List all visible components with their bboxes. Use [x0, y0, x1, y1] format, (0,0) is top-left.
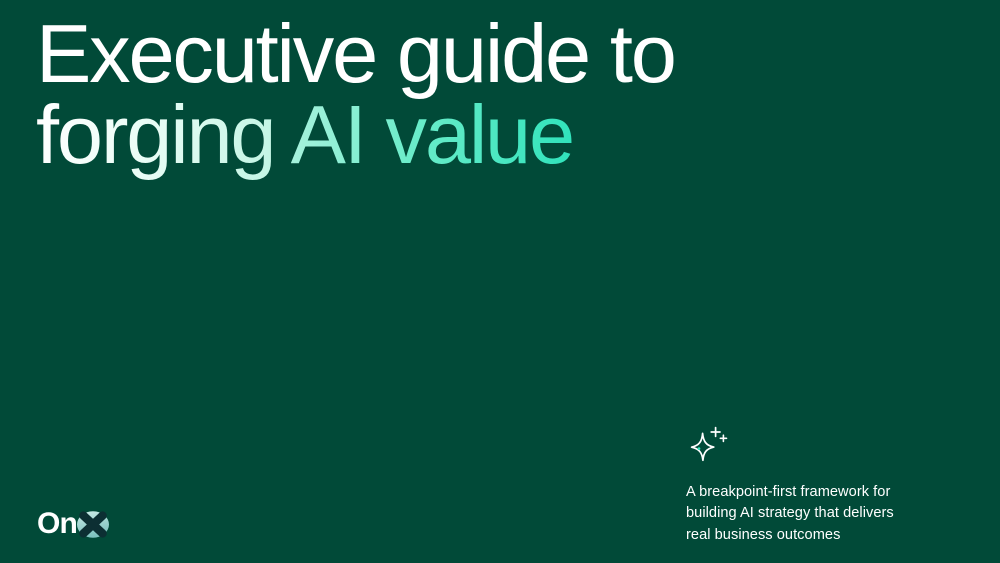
logo-x-mark-icon: [73, 507, 113, 541]
callout-line-3: real business outcomes: [686, 525, 966, 546]
brand-logo: On: [37, 506, 113, 542]
logo-wordmark: On: [37, 509, 77, 539]
title-line-2-prefix: forging: [36, 88, 291, 181]
page-title: Executive guide to forging AI value: [36, 14, 916, 175]
sparkle-star-shape: [692, 433, 714, 460]
sparkle-plus-large: [711, 428, 720, 437]
title-accent-ai-value: AI value: [291, 88, 573, 181]
callout-description: A breakpoint-first framework for buildin…: [686, 482, 966, 546]
slide-canvas: Executive guide to forging AI value A br…: [0, 0, 1000, 563]
title-line-1: Executive guide to: [36, 14, 916, 95]
title-line-2: forging AI value: [36, 95, 916, 176]
sparkle-icon: [686, 424, 732, 470]
callout-block: A breakpoint-first framework for buildin…: [686, 424, 966, 546]
callout-line-2: building AI strategy that delivers: [686, 503, 966, 524]
callout-line-1: A breakpoint-first framework for: [686, 482, 966, 503]
sparkle-accent-dot: [698, 447, 701, 450]
sparkle-plus-small: [720, 435, 726, 441]
